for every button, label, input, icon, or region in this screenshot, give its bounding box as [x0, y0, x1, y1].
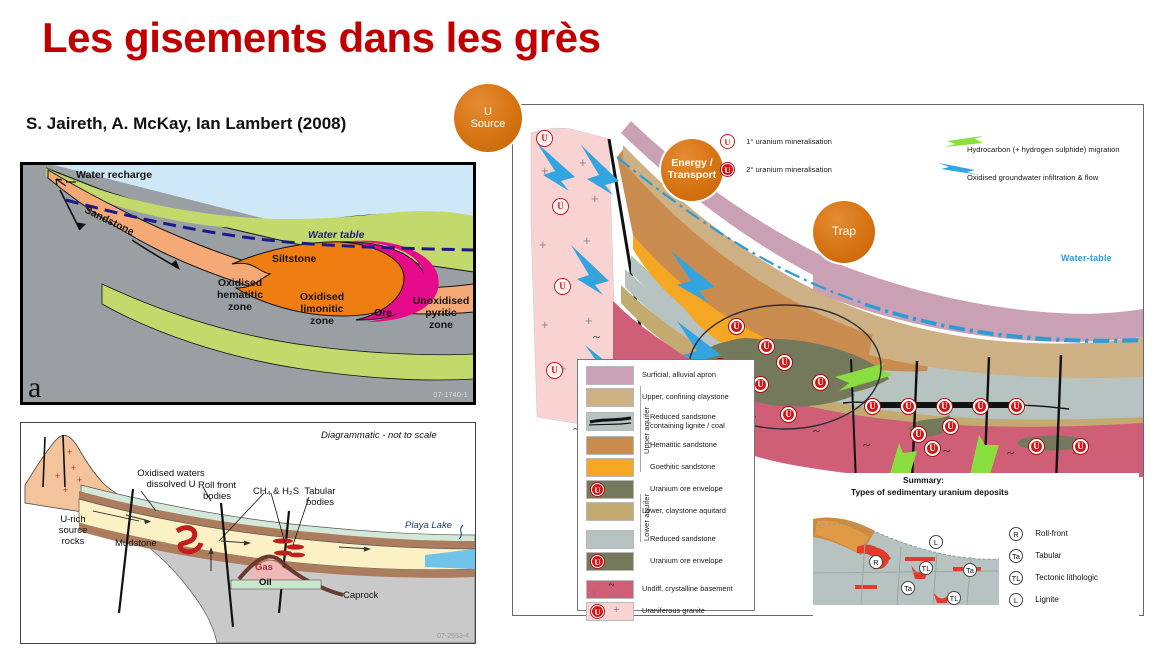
oh-l1: Oxidised — [218, 277, 262, 289]
svg-text:+: + — [539, 237, 547, 252]
swatch-reduced-sandstone — [586, 530, 634, 549]
legend-text-upper-claystone: Upper, confining claystone — [642, 392, 729, 401]
ow-l2: dissolved U — [146, 479, 195, 490]
key-label-tectonic: Tectonic lithologic — [1035, 573, 1098, 582]
summary-title-line2: Types of sedimentary uranium deposits — [851, 487, 1009, 497]
tb-l1: Tabular — [304, 486, 335, 497]
swatch-lower-claystone — [586, 502, 634, 521]
label-unoxidised-pyritic-zone: Unoxidised pyritic zone — [410, 296, 472, 331]
u-marker-ore-6: U — [753, 377, 768, 392]
rf-l2: bodies — [203, 491, 231, 502]
authors-line: S. Jaireth, A. McKay, Ian Lambert (2008) — [26, 114, 346, 134]
figure-sedimentary-uranium-systems: ++ ++ ++ ++ ++ ++ ~~ ~~ ~~ ~~ ~~ ~~ ~ ++… — [512, 104, 1144, 616]
summary-title-line1: Summary: — [903, 475, 944, 485]
ol-l2: limonitic — [300, 303, 343, 315]
label-tabular-bodies: Tabular bodies — [297, 487, 343, 509]
label-water-recharge: Water recharge — [52, 170, 162, 182]
callout-energy-line2: Transport — [668, 169, 716, 181]
up-l3: zone — [429, 319, 453, 331]
u-marker-ore-2: U — [759, 339, 774, 354]
svg-text:~: ~ — [813, 423, 820, 438]
svg-text:~: ~ — [1007, 445, 1014, 460]
legend-row-goethitic: Goethitic sandstone — [578, 456, 754, 478]
legend-secondary-mineralisation: U 2° uranium mineralisation — [721, 163, 832, 176]
tilde-icon-basement: ~ — [609, 581, 614, 591]
u-marker-seam-5: U — [1009, 399, 1024, 414]
label-oil: Oil — [259, 578, 272, 589]
key-badge-tl-icon: TL — [1009, 571, 1023, 585]
label-oxidised-hematitic-zone: Oxidised hematitic zone — [204, 278, 276, 313]
legend-groundwater-text: Oxidised groundwater infiltration & flow — [967, 173, 1098, 182]
lignite-seam-icon — [587, 413, 633, 430]
legend-text-ore-lower: Uranium ore envelope — [650, 556, 723, 565]
key-label-lignite: Lignite — [1035, 595, 1059, 604]
legend-text-surficial: Surficial, alluvial apron — [642, 370, 716, 379]
oh-l3: zone — [228, 301, 252, 313]
legend-text-lower-claystone: Lower, claystone aquitard — [642, 506, 726, 515]
u-marker-ore-4: U — [777, 355, 792, 370]
callout-u-source-line1: U — [484, 106, 492, 118]
legend-text-hematitic: Hematitic sandstone — [650, 440, 717, 449]
rf-l1: Roll front — [198, 480, 236, 491]
plus-icon-granite: + — [613, 605, 619, 616]
callout-energy-line1: Energy / — [671, 157, 712, 169]
u-marker-lens-1: U — [911, 427, 926, 442]
label-mudstone: Mudstone — [115, 539, 157, 550]
legend-row-hematitic: Hematitic sandstone — [578, 434, 754, 456]
panel-a-figure-code: 07-1740-1 — [433, 392, 468, 399]
swatch-ore-lower: U — [586, 552, 634, 571]
legend-row-ore-lower: U Uranium ore envelope — [578, 550, 754, 572]
swatch-ore-upper: U — [586, 480, 634, 499]
svg-text:+: + — [585, 313, 593, 328]
u-badge-legend-lower-icon: U — [591, 555, 604, 568]
swatch-granite: U + — [586, 602, 634, 621]
u-marker-seam-2: U — [901, 399, 916, 414]
u-marker-lens-2: U — [943, 419, 958, 434]
summary-key-roll-front: R Roll-front — [1009, 527, 1068, 541]
svg-text:+: + — [71, 463, 76, 473]
legend-text-reduced-sandstone: Reduced sandstone — [650, 534, 716, 543]
legend-primary-text: 1° uranium mineralisation — [746, 137, 832, 146]
ur-l3: rocks — [62, 536, 85, 547]
map-badge-lignite: L — [929, 535, 943, 549]
svg-text:+: + — [597, 271, 605, 286]
legend-secondary-text: 2° uranium mineralisation — [746, 165, 832, 174]
callout-u-source[interactable]: U Source — [454, 84, 522, 152]
u-marker-seam-4: U — [973, 399, 988, 414]
legend-groundwater-flow: Oxidised groundwater infiltration & flow — [937, 161, 1098, 186]
u-badge-secondary-icon: U — [721, 163, 734, 176]
swatch-hematitic — [586, 436, 634, 455]
swatch-upper-claystone — [586, 388, 634, 407]
legend-text-ore-upper: Uranium ore envelope — [650, 484, 723, 493]
ur-l1: U-rich — [60, 514, 85, 525]
figure-basin-cross-section: +++ ++ Diagrammatic - not to scale U-ric… — [20, 422, 476, 644]
callout-trap[interactable]: Trap — [813, 201, 875, 263]
legend-row-ore-upper: U Uranium ore envelope — [578, 478, 754, 500]
ol-l3: zone — [310, 315, 334, 327]
label-water-table-right: Water-table — [1061, 253, 1112, 263]
swatch-lignite-sandstone — [586, 412, 634, 431]
legend-row-upper-claystone: Upper, confining claystone — [578, 386, 754, 408]
label-u-rich-source-rocks: U-rich source rocks — [43, 515, 103, 548]
map-badge-tabular-1: Ta — [963, 563, 977, 577]
legend-primary-mineralisation: U 1° uranium mineralisation — [721, 135, 832, 148]
label-siltstone: Siltstone — [272, 254, 316, 266]
label-caprock: Caprock — [343, 591, 378, 602]
legend-row-reduced-sandstone: Reduced sandstone — [578, 528, 754, 550]
legend-text-basement: Undiff. crystalline basement — [642, 584, 733, 593]
legend-text-lignite-sandstone: Reduced sandstone containing lignite / c… — [650, 412, 725, 431]
map-badge-tectonic-2: TL — [947, 591, 961, 605]
ow-l1: Oxidised waters — [137, 468, 205, 479]
tb-l2: bodies — [306, 497, 334, 508]
map-badge-roll-front: R — [869, 555, 883, 569]
callout-u-source-line2: Source — [471, 118, 506, 130]
label-playa-lake: Playa Lake — [405, 521, 452, 532]
u-marker-ore-7: U — [813, 375, 828, 390]
plus-icon-basement: + — [591, 589, 597, 600]
legend-row-lignite-sandstone: Reduced sandstone containing lignite / c… — [578, 408, 754, 434]
swatch-goethitic — [586, 458, 634, 477]
up-l1: Unoxidised — [413, 295, 470, 307]
svg-text:+: + — [583, 233, 591, 248]
svg-text:+: + — [591, 191, 599, 206]
swatch-basement: ~ + — [586, 580, 634, 599]
svg-text:+: + — [77, 475, 82, 485]
lignite-l2: containing lignite / coal — [650, 421, 725, 430]
legend-row-granite: U + Uraniferous granite — [578, 600, 754, 622]
svg-text:~: ~ — [943, 443, 950, 458]
svg-text:+: + — [55, 471, 60, 481]
svg-text:+: + — [541, 163, 549, 178]
u-marker-ore-10: U — [781, 407, 796, 422]
u-marker-granite-2: U — [553, 199, 568, 214]
u-marker-lens-4: U — [1029, 439, 1044, 454]
legend-text-granite: Uraniferous granite — [642, 606, 705, 615]
legend-hydrocarbon-migration: Hydrocarbon (+ hydrogen sulphide) migrat… — [937, 133, 1120, 158]
panel-letter-a: a — [28, 373, 41, 403]
label-diagrammatic: Diagrammatic - not to scale — [321, 431, 437, 442]
u-marker-granite-4: U — [547, 363, 562, 378]
legend-row-basement: ~ + Undiff. crystalline basement — [578, 578, 754, 600]
legend-text-goethitic: Goethitic sandstone — [650, 462, 715, 471]
summary-key-lignite: L Lignite — [1009, 593, 1059, 607]
map-badge-tectonic-1: TL — [919, 561, 933, 575]
map-badge-tabular-2: Ta — [901, 581, 915, 595]
key-badge-ta-icon: Ta — [1009, 549, 1023, 563]
lignite-l1: Reduced sandstone — [650, 412, 716, 421]
svg-text:+: + — [579, 155, 587, 170]
oh-l2: hematitic — [217, 289, 263, 301]
callout-trap-label: Trap — [832, 225, 856, 238]
u-badge-legend-upper-icon: U — [591, 483, 604, 496]
label-ore: Ore — [374, 308, 392, 320]
u-marker-lens-5: U — [1073, 439, 1088, 454]
summary-key-tectonic: TL Tectonic lithologic — [1009, 571, 1098, 585]
u-marker-granite-3: U — [555, 279, 570, 294]
ur-l2: source — [59, 525, 88, 536]
svg-text:~: ~ — [863, 437, 870, 452]
u-marker-seam-3: U — [937, 399, 952, 414]
key-label-roll-front: Roll-front — [1035, 529, 1067, 538]
legend-hydrocarbon-text: Hydrocarbon (+ hydrogen sulphide) migrat… — [967, 145, 1120, 154]
svg-text:+: + — [67, 447, 72, 457]
u-marker-ore-1: U — [729, 319, 744, 334]
callout-energy-transport[interactable]: Energy / Transport — [661, 139, 723, 201]
key-badge-r-icon: R — [1009, 527, 1023, 541]
u-marker-granite-1: U — [537, 131, 552, 146]
u-marker-seam-1: U — [865, 399, 880, 414]
u-badge-primary-icon: U — [721, 135, 734, 148]
u-badge-legend-granite-icon: U — [591, 605, 604, 618]
up-l2: pyritic — [425, 307, 457, 319]
key-label-tabular: Tabular — [1035, 551, 1061, 560]
summary-key-tabular: Ta Tabular — [1009, 549, 1061, 563]
legend-lithology: Upper aquifer Lower aquifer Surficial, a… — [577, 359, 755, 611]
svg-text:+: + — [63, 485, 68, 495]
svg-text:~: ~ — [593, 329, 600, 344]
swatch-surficial — [586, 366, 634, 385]
page-title: Les gisements dans les grès — [42, 14, 600, 62]
label-oxidised-limonitic-zone: Oxidised limonitic zone — [286, 292, 358, 327]
slide-root: Les gisements dans les grès S. Jaireth, … — [0, 0, 1156, 666]
key-badge-l-icon: L — [1009, 593, 1023, 607]
panel-b-figure-code: 07-2553-4 — [437, 633, 469, 640]
u-marker-lens-3: U — [925, 441, 940, 456]
figure-roll-front-cross-section: Water recharge Sandstone Water table Sil… — [20, 162, 476, 405]
label-water-table: Water table — [308, 230, 364, 242]
label-gas: Gas — [255, 563, 273, 574]
legend-row-lower-claystone: Lower, claystone aquitard — [578, 500, 754, 522]
summary-inset: Summary: Types of sedimentary uranium de… — [813, 473, 1139, 617]
legend-row-surficial: Surficial, alluvial apron — [578, 364, 754, 386]
ol-l1: Oxidised — [300, 291, 344, 303]
svg-text:+: + — [541, 317, 549, 332]
label-roll-front-bodies: Roll front bodies — [193, 481, 241, 503]
